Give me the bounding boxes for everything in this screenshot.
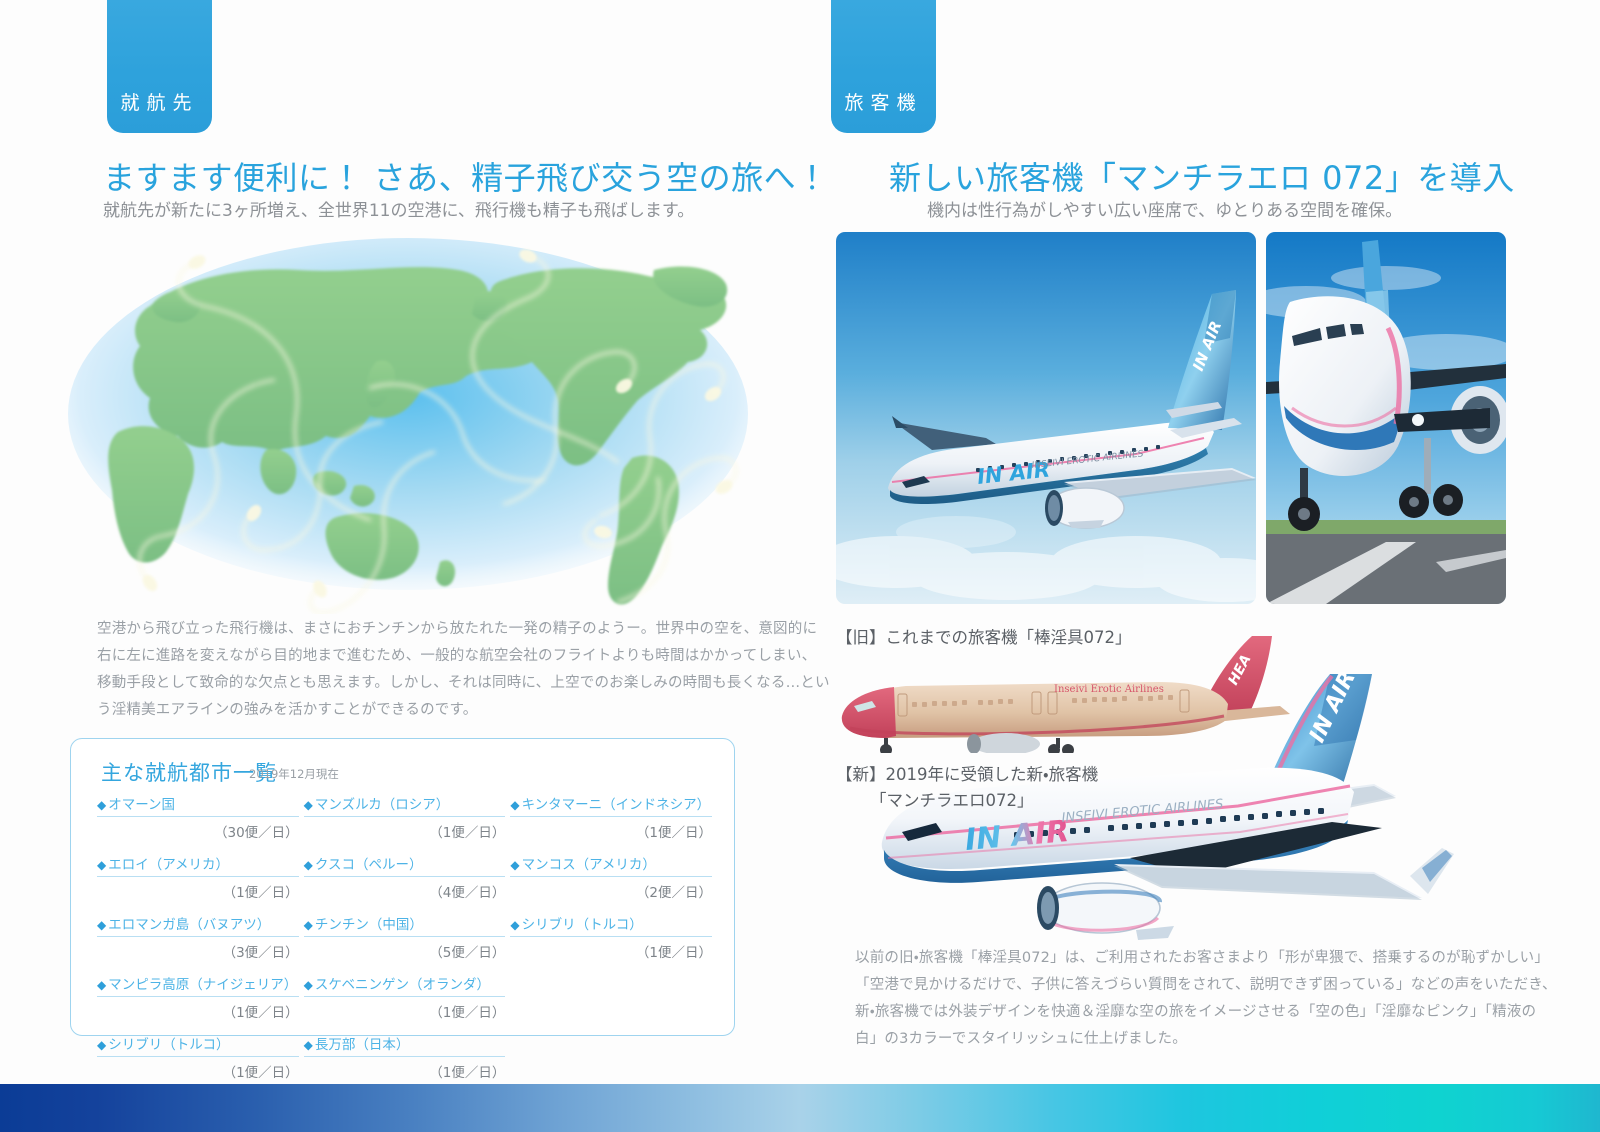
city-name: ◆チンチン（中国） [304, 913, 506, 937]
city-list-column-2: ◆マンズルカ（ロシア） （1便／日） ◆クスコ（ペルー） （4便／日） ◆チンチ… [304, 793, 506, 1093]
city-name: ◆マンコス（アメリカ） [510, 853, 712, 877]
city-list-item[interactable]: ◆シリブリ（トルコ） （1便／日） [97, 1033, 299, 1081]
city-frequency: （5便／日） [304, 937, 506, 961]
city-frequency: （1便／日） [510, 817, 712, 841]
city-frequency: （1便／日） [304, 997, 506, 1021]
new-aircraft-illustration: IN AIR [862, 672, 1502, 962]
new-aircraft-caption: 【新】2019年に受領した新・旅客機 「マンチラエロ072」 [836, 762, 1098, 814]
section-tab-destinations[interactable]: 就航先 [107, 0, 212, 133]
destinations-body-line-4: う淫精美エアラインの強みを活かすことができるのです。 [97, 697, 697, 724]
city-list-item[interactable]: ◆マンコス（アメリカ） （2便／日） [510, 853, 712, 901]
aircraft-body-text: 以前の旧・旅客機「棒淫具072」は、ご利用されたお客さまより「形が卑猥で、搭乗す… [855, 945, 1465, 1053]
aircraft-body-line-4: 白」の3カラーでスタイリッシュに仕上げました。 [855, 1026, 1465, 1053]
diamond-icon: ◆ [510, 918, 519, 932]
city-list-column-3: ◆キンタマーニ（インドネシア） （1便／日） ◆マンコス（アメリカ） （2便／日… [510, 793, 712, 1093]
old-aircraft-caption: 【旧】これまでの旅客機「棒淫具072」 [836, 625, 1132, 651]
city-frequency: （1便／日） [304, 817, 506, 841]
aircraft-subtitle: 機内は性行為がしやすい広い座席で、ゆとりある空間を確保。 [927, 196, 1402, 221]
diamond-icon: ◆ [97, 798, 106, 812]
city-frequency: （2便／日） [510, 877, 712, 901]
section-tab-destinations-label: 就航先 [120, 88, 198, 115]
city-list-item[interactable]: ◆チンチン（中国） （5便／日） [304, 913, 506, 961]
city-list-date-note: 2019年12月現在 [249, 766, 339, 782]
new-aircraft-caption-line-1: 【新】2019年に受領した新・旅客機 [836, 765, 1098, 784]
city-list-column-1: ◆オマーン国 （30便／日） ◆エロイ（アメリカ） （1便／日） ◆エロマンガ島… [97, 793, 299, 1093]
city-name: ◆エロイ（アメリカ） [97, 853, 299, 877]
destinations-title: ますます便利に！ さあ、精子飛び交う空の旅へ！ [103, 153, 829, 199]
diamond-icon: ◆ [510, 858, 519, 872]
city-frequency: （1便／日） [97, 997, 299, 1021]
city-name: ◆クスコ（ペルー） [304, 853, 506, 877]
city-list-item[interactable]: ◆スケベニンゲン（オランダ） （1便／日） [304, 973, 506, 1021]
diamond-icon: ◆ [304, 918, 313, 932]
city-name: ◆キンタマーニ（インドネシア） [510, 793, 712, 817]
diamond-icon: ◆ [97, 858, 106, 872]
diamond-icon: ◆ [304, 858, 313, 872]
city-list-item[interactable]: ◆オマーン国 （30便／日） [97, 793, 299, 841]
city-list-item[interactable]: ◆エロイ（アメリカ） （1便／日） [97, 853, 299, 901]
city-list-item[interactable]: ◆マンピラ高原（ナイジェリア） （1便／日） [97, 973, 299, 1021]
aircraft-runway-photo [1266, 232, 1506, 604]
diamond-icon: ◆ [97, 1038, 106, 1052]
city-frequency: （1便／日） [97, 877, 299, 901]
brochure-page: 就航先 ますます便利に！ さあ、精子飛び交う空の旅へ！ 就航先が新たに3ヶ所増え… [0, 0, 1600, 1132]
city-name: ◆シリブリ（トルコ） [97, 1033, 299, 1057]
city-list-item[interactable]: ◆キンタマーニ（インドネシア） （1便／日） [510, 793, 712, 841]
diamond-icon: ◆ [304, 1038, 313, 1052]
city-frequency: （30便／日） [97, 817, 299, 841]
destinations-body-line-3: 移動手段として致命的な欠点とも思えます。しかし、それは同時に、上空でのお楽しみの… [97, 670, 697, 697]
aircraft-title: 新しい旅客機「マンチラエロ 072」を導入 [889, 153, 1515, 199]
city-list-item[interactable]: ◆シリブリ（トルコ） （1便／日） [510, 913, 712, 961]
city-name: ◆シリブリ（トルコ） [510, 913, 712, 937]
footer-gradient-bar [0, 1084, 1600, 1132]
diamond-icon: ◆ [304, 978, 313, 992]
city-frequency: （4便／日） [304, 877, 506, 901]
city-frequency: （1便／日） [304, 1057, 506, 1081]
city-list-item[interactable]: ◆エロマンガ島（バヌアツ） （3便／日） [97, 913, 299, 961]
destination-city-list-box: 主な就航都市一覧 2019年12月現在 ◆オマーン国 （30便／日） ◆エロイ（… [70, 738, 735, 1036]
city-name: ◆長万部（日本） [304, 1033, 506, 1057]
diamond-icon: ◆ [97, 918, 106, 932]
section-tab-aircraft[interactable]: 旅客機 [831, 0, 936, 133]
destinations-body-line-1: 空港から飛び立った飛行機は、まさにおチンチンから放たれた一発の精子のようー。世界… [97, 616, 697, 643]
aircraft-inflight-photo: IN AIR INSEIVI EROTIC AIRLINES IN AIR [836, 232, 1256, 604]
destinations-subtitle: 就航先が新たに3ヶ所増え、全世界11の空港に、飛行機も精子も飛ばします。 [103, 196, 694, 221]
aircraft-body-line-3: 新・旅客機では外装デザインを快適＆淫靡な空の旅をイメージさせる「空の色」「淫靡な… [855, 999, 1465, 1026]
city-frequency: （3便／日） [97, 937, 299, 961]
section-tab-aircraft-label: 旅客機 [844, 88, 922, 115]
aircraft-body-line-2: 「空港で見かけるだけで、子供に答えづらい質問をされて、説明できず困っている」など… [855, 972, 1465, 999]
world-route-map [58, 236, 758, 614]
destinations-body-text: 空港から飛び立った飛行機は、まさにおチンチンから放たれた一発の精子のようー。世界… [97, 616, 697, 724]
city-name: ◆エロマンガ島（バヌアツ） [97, 913, 299, 937]
city-list-item[interactable]: ◆クスコ（ペルー） （4便／日） [304, 853, 506, 901]
city-name: ◆マンピラ高原（ナイジェリア） [97, 973, 299, 997]
destinations-body-line-2: 右に左に進路を変えながら目的地まで進むため、一般的な航空会社のフライトよりも時間… [97, 643, 697, 670]
new-aircraft-caption-line-2: 「マンチラエロ072」 [836, 788, 1098, 814]
city-frequency: （1便／日） [97, 1057, 299, 1081]
city-name: ◆スケベニンゲン（オランダ） [304, 973, 506, 997]
city-list-item[interactable]: ◆長万部（日本） （1便／日） [304, 1033, 506, 1081]
aircraft-body-line-1: 以前の旧・旅客機「棒淫具072」は、ご利用されたお客さまより「形が卑猥で、搭乗す… [855, 945, 1465, 972]
city-frequency: （1便／日） [510, 937, 712, 961]
city-list-item[interactable]: ◆マンズルカ（ロシア） （1便／日） [304, 793, 506, 841]
city-list-columns: ◆オマーン国 （30便／日） ◆エロイ（アメリカ） （1便／日） ◆エロマンガ島… [97, 793, 712, 1093]
diamond-icon: ◆ [304, 798, 313, 812]
city-name: ◆オマーン国 [97, 793, 299, 817]
diamond-icon: ◆ [97, 978, 106, 992]
city-name: ◆マンズルカ（ロシア） [304, 793, 506, 817]
diamond-icon: ◆ [510, 798, 519, 812]
